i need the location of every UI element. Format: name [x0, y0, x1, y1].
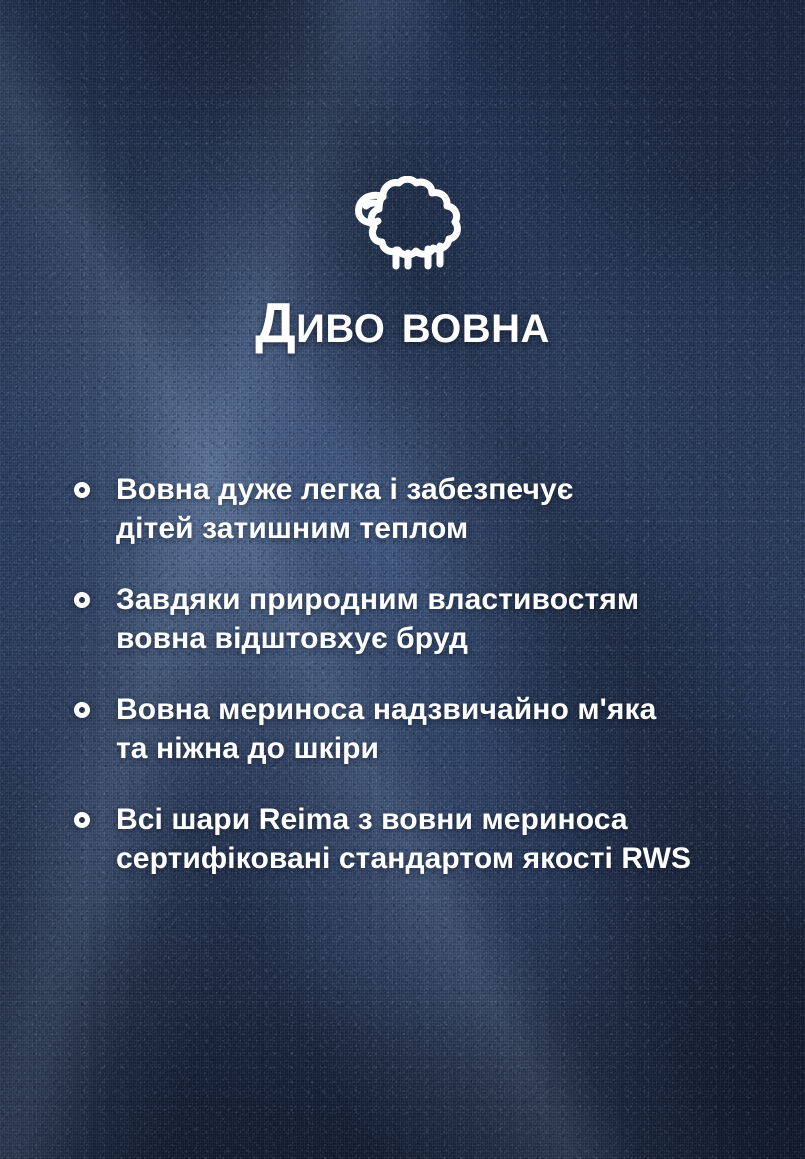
benefit-line: Вовна дуже легка і забезпечує [116, 470, 573, 509]
page-title: Диво вовна [0, 294, 805, 352]
benefit-line: сертифіковані стандартом якості RWS [116, 839, 691, 878]
benefit-text-2: Завдяки природним властивостям вовна від… [116, 580, 639, 658]
ring-bullet-icon [74, 482, 90, 498]
benefit-line: Всі шари Reima з вовни мериноса [116, 800, 691, 839]
benefit-line: дітей затишним теплом [116, 509, 573, 548]
list-item: Всі шари Reima з вовни мериноса сертифік… [74, 800, 769, 878]
benefit-text-3: Вовна мериноса надзвичайно м'яка та ніжн… [116, 690, 656, 768]
sheep-icon [336, 176, 470, 272]
benefit-line: Завдяки природним властивостям [116, 580, 639, 619]
poster-header: Диво вовна [0, 176, 805, 352]
wool-feature-poster: Диво вовна Вовна дуже легка і забезпечує… [0, 0, 805, 1159]
benefit-text-4: Всі шари Reima з вовни мериноса сертифік… [116, 800, 691, 878]
ring-bullet-icon [74, 592, 90, 608]
benefit-line: Вовна мериноса надзвичайно м'яка [116, 690, 656, 729]
list-item: Вовна мериноса надзвичайно м'яка та ніжн… [74, 690, 769, 768]
ring-bullet-icon [74, 812, 90, 828]
benefit-text-1: Вовна дуже легка і забезпечує дітей зати… [116, 470, 573, 548]
poster-content: Диво вовна Вовна дуже легка і забезпечує… [0, 0, 805, 1159]
benefits-list: Вовна дуже легка і забезпечує дітей зати… [74, 470, 769, 878]
benefit-line: вовна відштовхує бруд [116, 619, 639, 658]
list-item: Вовна дуже легка і забезпечує дітей зати… [74, 470, 769, 548]
ring-bullet-icon [74, 702, 90, 718]
list-item: Завдяки природним властивостям вовна від… [74, 580, 769, 658]
benefit-line: та ніжна до шкіри [116, 729, 656, 768]
